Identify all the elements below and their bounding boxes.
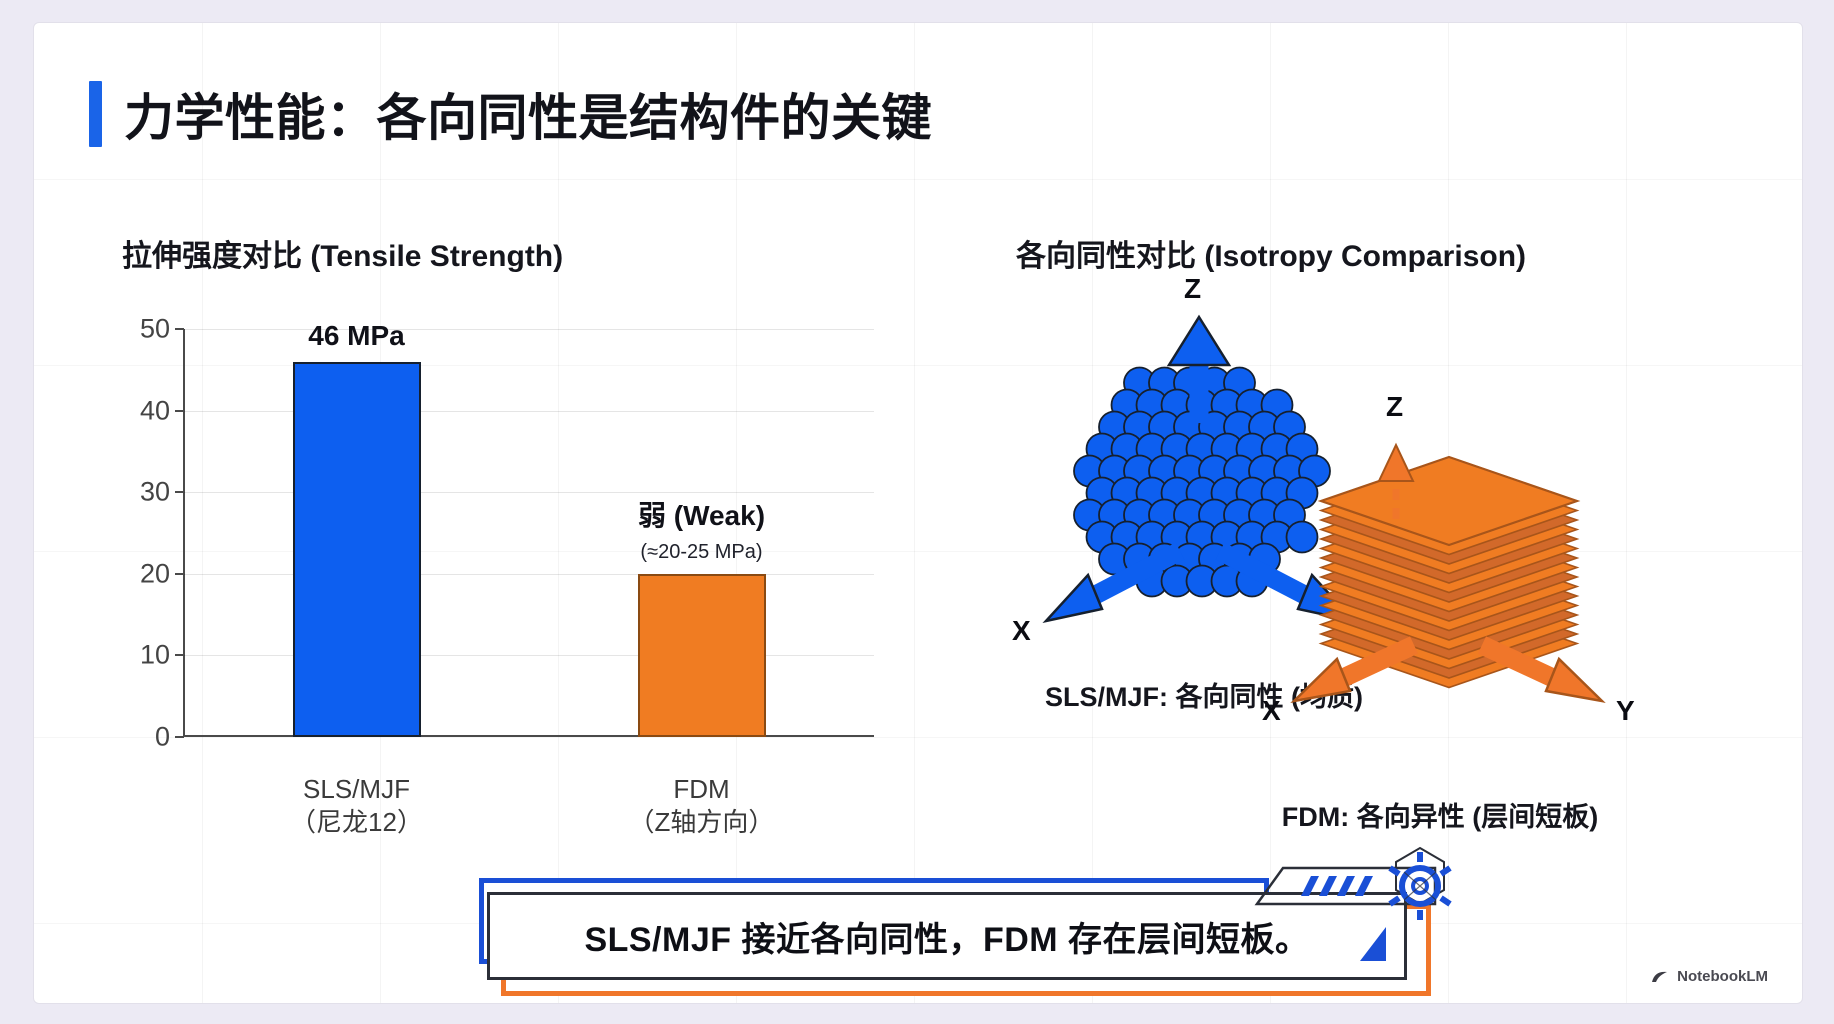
slide-canvas: 力学性能：各向同性是结构件的关键 拉伸强度对比 (Tensile Strengt… <box>33 22 1803 1004</box>
y-axis-tick <box>175 410 184 412</box>
y-axis-tick-label: 10 <box>140 640 170 671</box>
grid-line <box>184 574 874 575</box>
fdm-axis-label-x: X <box>1262 695 1281 727</box>
y-axis-tick-label: 50 <box>140 314 170 345</box>
y-axis-tick <box>175 573 184 575</box>
page-title: 力学性能：各向同性是结构件的关键 <box>89 78 932 150</box>
bar-value-label: 弱 (Weak) <box>638 494 765 534</box>
y-axis-tick-label: 30 <box>140 477 170 508</box>
notebooklm-watermark: NotebookLM <box>1650 968 1768 985</box>
gear-icon <box>1374 846 1466 942</box>
y-axis-tick-label: 0 <box>155 722 170 753</box>
right-panel-header: 各向同性对比 (Isotropy Comparison) <box>1016 231 1526 275</box>
bar-value-label: 46 MPa <box>308 320 405 352</box>
y-axis-tick <box>175 654 184 656</box>
bar-fdm[interactable] <box>638 574 766 737</box>
bar-sls-mjf[interactable] <box>293 362 421 737</box>
fdm-caption: FDM: 各向异性 (层间短板) <box>1282 795 1598 834</box>
title-accent-bar <box>89 81 102 147</box>
fdm-axis-label-z: Z <box>1386 391 1403 423</box>
callout-text: SLS/MJF 接近各向同性，FDM 存在层间短板。 <box>584 912 1309 961</box>
sls-axis-label-x: X <box>1012 615 1031 647</box>
title-text: 力学性能：各向同性是结构件的关键 <box>124 78 932 150</box>
fdm-layer-stack-icon <box>1264 423 1654 743</box>
plot-area: 0102030405046 MPa弱 (Weak)(≈20-25 MPa) <box>184 329 874 737</box>
notebooklm-logo-icon <box>1650 969 1670 985</box>
left-panel-header: 拉伸强度对比 (Tensile Strength) <box>122 231 563 275</box>
tensile-strength-bar-chart: 0102030405046 MPa弱 (Weak)(≈20-25 MPa) SL… <box>122 311 892 771</box>
y-axis-tick <box>175 491 184 493</box>
sls-axis-label-z: Z <box>1184 273 1201 305</box>
bar-value-sublabel: (≈20-25 MPa) <box>640 541 762 564</box>
x-axis-category-label: SLS/MJF（尼龙12） <box>290 773 423 840</box>
summary-callout: SLS/MJF 接近各向同性，FDM 存在层间短板。 <box>479 878 1439 998</box>
grid-line <box>184 411 874 412</box>
grid-line <box>184 655 874 656</box>
grid-line <box>184 492 874 493</box>
x-axis-category-label: FDM（Z轴方向） <box>629 773 775 840</box>
y-axis-tick-label: 20 <box>140 558 170 589</box>
y-axis-tick-label: 40 <box>140 395 170 426</box>
fdm-axis-label-y: Y <box>1616 695 1635 727</box>
fdm-anisotropy-diagram: Z X Y <box>1264 423 1654 743</box>
y-axis-tick <box>175 736 184 738</box>
grid-line <box>184 329 874 330</box>
watermark-label: NotebookLM <box>1677 968 1768 985</box>
y-axis-tick <box>175 328 184 330</box>
